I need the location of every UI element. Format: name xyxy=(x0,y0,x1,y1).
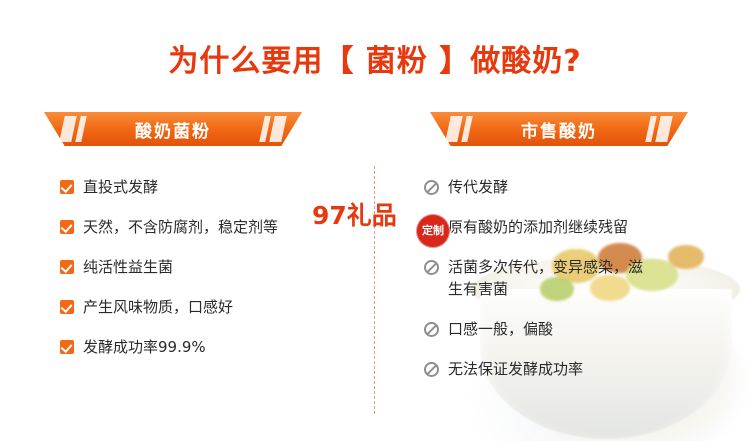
list-item-label: 原有酸奶的添加剂继续残留 xyxy=(448,216,628,238)
ban-circle-icon xyxy=(424,220,439,235)
list-item: 发酵成功率99.9% xyxy=(60,336,360,358)
list-item: 天然，不含防腐剂，稳定剂等 xyxy=(60,216,360,238)
list-item-label: 无法保证发酵成功率 xyxy=(448,358,583,380)
check-square-icon xyxy=(60,260,74,274)
check-square-icon xyxy=(60,180,74,194)
check-square-icon xyxy=(60,300,74,314)
list-item: 传代发酵 xyxy=(424,176,724,198)
promo-graphic: 为什么要用【 菌粉 】做酸奶? 酸奶菌粉 市售酸奶 直投式发酵 天然，不含防腐剂… xyxy=(0,0,750,441)
ban-circle-icon xyxy=(424,322,439,337)
list-item-label: 发酵成功率99.9% xyxy=(83,336,206,358)
banner-label-right: 市售酸奶 xyxy=(430,112,688,146)
ban-circle-icon xyxy=(424,362,439,377)
column-banner-right: 市售酸奶 xyxy=(430,112,688,146)
page-title: 为什么要用【 菌粉 】做酸奶? xyxy=(0,36,750,80)
list-item: 产生风味物质，口感好 xyxy=(60,296,360,318)
list-item: 原有酸奶的添加剂继续残留 xyxy=(424,216,724,238)
ban-circle-icon xyxy=(424,260,439,275)
list-item: 直投式发酵 xyxy=(60,176,360,198)
list-item-label: 纯活性益生菌 xyxy=(83,256,173,278)
list-item-label: 口感一般，偏酸 xyxy=(448,318,553,340)
list-item-label: 活菌多次传代，变异感染，滋 生有害菌 xyxy=(448,256,643,300)
check-square-icon xyxy=(60,220,74,234)
banner-label-left: 酸奶菌粉 xyxy=(44,112,302,146)
list-item-label: 天然，不含防腐剂，稳定剂等 xyxy=(83,216,278,238)
list-item: 口感一般，偏酸 xyxy=(424,318,724,340)
list-item-label: 产生风味物质，口感好 xyxy=(83,296,233,318)
list-item-label: 传代发酵 xyxy=(448,176,508,198)
check-square-icon xyxy=(60,340,74,354)
column-banner-left: 酸奶菌粉 xyxy=(44,112,302,146)
benefits-list: 直投式发酵 天然，不含防腐剂，稳定剂等 纯活性益生菌 产生风味物质，口感好 发酵… xyxy=(60,176,360,376)
list-item: 纯活性益生菌 xyxy=(60,256,360,278)
column-divider xyxy=(374,166,375,414)
list-item-label: 直投式发酵 xyxy=(83,176,158,198)
ban-circle-icon xyxy=(424,180,439,195)
list-item: 无法保证发酵成功率 xyxy=(424,358,724,380)
list-item: 活菌多次传代，变异感染，滋 生有害菌 xyxy=(424,256,724,300)
drawbacks-list: 传代发酵 原有酸奶的添加剂继续残留 活菌多次传代，变异感染，滋 生有害菌 口感一… xyxy=(424,176,724,398)
